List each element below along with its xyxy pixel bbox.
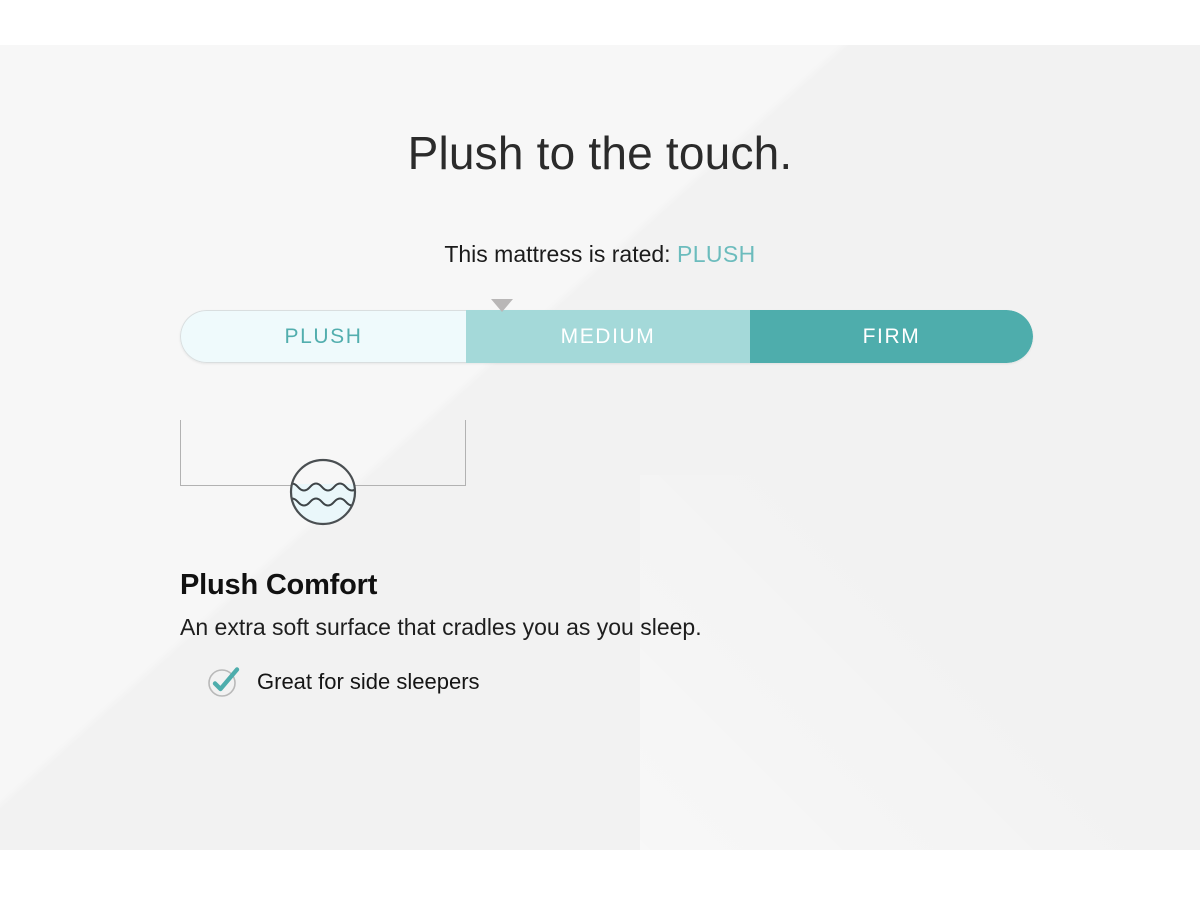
detail-description: An extra soft surface that cradles you a…: [180, 614, 702, 641]
check-circle-icon: [207, 665, 243, 699]
firmness-scale[interactable]: PLUSH MEDIUM FIRM: [180, 310, 1033, 363]
scale-segment-medium[interactable]: MEDIUM: [466, 310, 750, 363]
scale-segment-plush[interactable]: PLUSH: [180, 310, 466, 363]
water-waves-circle-icon: [288, 457, 358, 527]
content-panel: Plush to the touch. This mattress is rat…: [0, 45, 1200, 850]
screen: Plush to the touch. This mattress is rat…: [0, 0, 1200, 900]
down-triangle-marker-icon: [491, 299, 513, 312]
benefit-item: Great for side sleepers: [207, 665, 480, 699]
rating-prefix-label: This mattress is rated:: [444, 241, 670, 267]
background-diagonal-highlight: [640, 475, 1200, 850]
page-title: Plush to the touch.: [0, 126, 1200, 180]
scale-segment-firm[interactable]: FIRM: [750, 310, 1033, 363]
benefit-label: Great for side sleepers: [257, 669, 480, 695]
rating-line: This mattress is rated: PLUSH: [0, 241, 1200, 268]
rating-value: PLUSH: [677, 241, 756, 267]
firmness-scale-bar[interactable]: PLUSH MEDIUM FIRM: [180, 310, 1033, 363]
detail-heading: Plush Comfort: [180, 569, 377, 602]
